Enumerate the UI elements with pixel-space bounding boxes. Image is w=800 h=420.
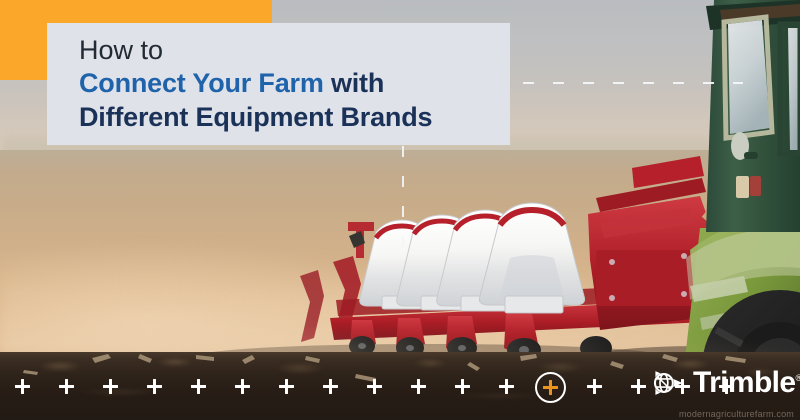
trimble-logo: Trimble® xyxy=(652,366,800,400)
headline-emphasis: Connect Your Farm xyxy=(79,68,324,98)
plus-marker[interactable] xyxy=(587,379,602,394)
trimble-globe-triangle-icon xyxy=(652,366,686,400)
banner-image: How to Connect Your Farm with Different … xyxy=(0,0,800,420)
headline-card: How to Connect Your Farm with Different … xyxy=(47,23,510,145)
plus-marker[interactable] xyxy=(279,379,294,394)
plus-marker[interactable] xyxy=(367,379,382,394)
active-plus-horizontal xyxy=(543,386,558,389)
brand-name: Trimble xyxy=(693,366,796,399)
headline-line-3: Different Equipment Brands xyxy=(79,101,510,135)
registered-mark: ® xyxy=(796,373,800,383)
plus-marker[interactable] xyxy=(59,379,74,394)
trimble-wordmark: Trimble® xyxy=(693,368,800,398)
plus-marker[interactable] xyxy=(455,379,470,394)
plus-marker[interactable] xyxy=(191,379,206,394)
watermark-url: modernagriculturefarm.com xyxy=(679,409,794,419)
headline-line-2: Connect Your Farm with xyxy=(79,67,510,101)
plus-marker[interactable] xyxy=(631,379,646,394)
plus-marker[interactable] xyxy=(323,379,338,394)
plus-marker[interactable] xyxy=(235,379,250,394)
plus-marker[interactable] xyxy=(147,379,162,394)
plus-marker[interactable] xyxy=(15,379,30,394)
plus-marker[interactable] xyxy=(103,379,118,394)
headline-line-2-rest: with xyxy=(324,68,385,98)
dust-foreground xyxy=(0,280,800,360)
dashed-guide-vertical xyxy=(402,146,404,266)
headline-line-1: How to xyxy=(79,35,510,67)
plus-marker-active[interactable] xyxy=(535,372,566,403)
plus-marker[interactable] xyxy=(499,379,514,394)
plus-marker[interactable] xyxy=(411,379,426,394)
